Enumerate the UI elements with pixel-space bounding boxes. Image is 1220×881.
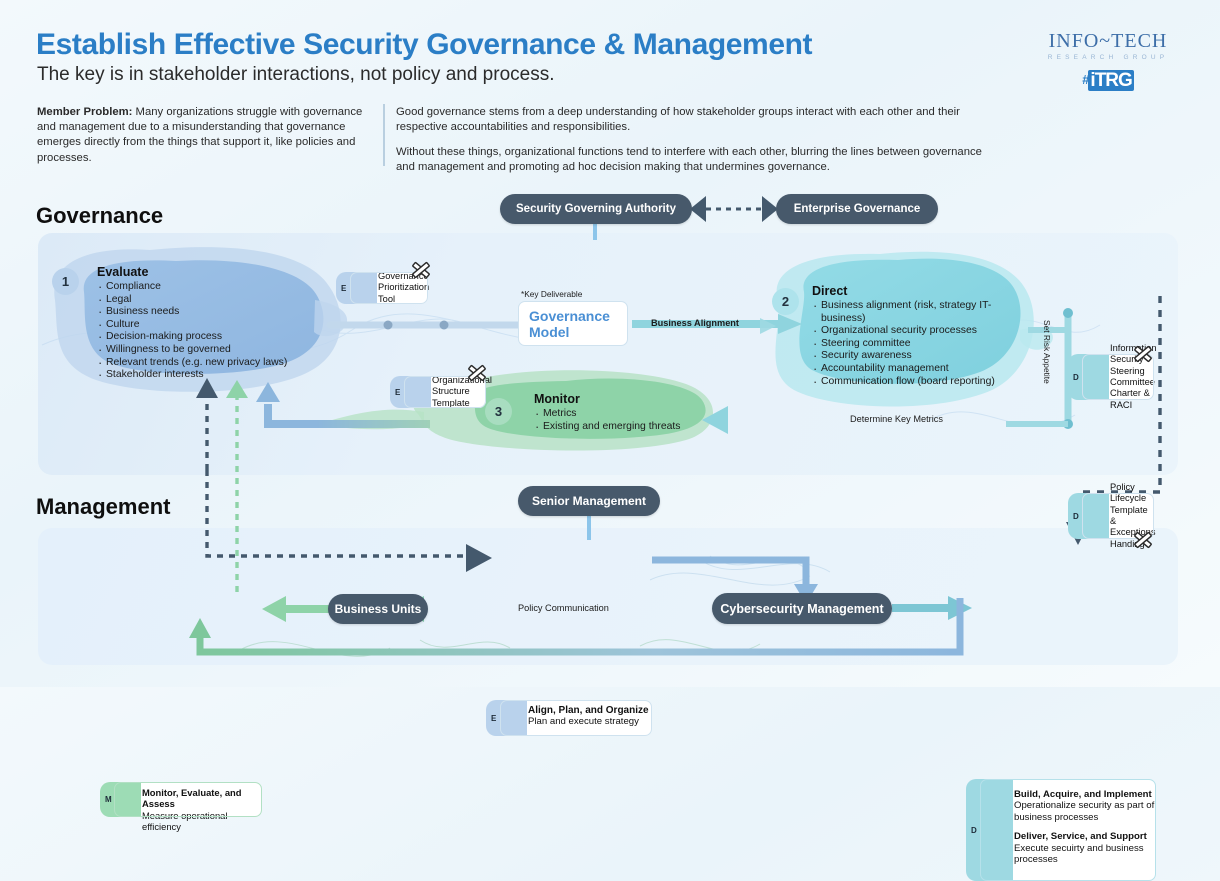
deliverable-policy-lifecycle-template[interactable]: D Policy Lifecycle Template & Exceptions…	[1082, 493, 1154, 539]
step-number-3: 3	[485, 398, 512, 425]
tool-icon	[1132, 529, 1154, 551]
tool-icon	[1132, 343, 1154, 365]
card-text: Monitor, Evaluate, and Assess Measure op…	[136, 782, 262, 817]
card-align-plan-organize[interactable]: E Align, Plan, and Organize Plan and exe…	[500, 700, 652, 736]
card-desc: Operationalize security as part of busin…	[1014, 800, 1156, 823]
direct-block: Direct Business alignment (risk, strateg…	[812, 284, 1017, 388]
card-title: Monitor, Evaluate, and Assess	[142, 787, 262, 810]
tag-letter: E	[395, 388, 400, 397]
list-item: Communication flow (board reporting)	[812, 376, 1017, 389]
info-tech-logo: INFO~TECH RESEARCH GROUP #iTRG	[1028, 30, 1188, 92]
label-set-risk-appetite: Set Risk Appetite	[1042, 320, 1052, 384]
node-cybersecurity-management[interactable]: Cybersecurity Management	[712, 593, 892, 624]
list-item: Existing and emerging threats	[534, 421, 754, 434]
list-item: Security awareness	[812, 350, 1017, 363]
list-item: Stakeholder interests	[97, 369, 347, 382]
node-enterprise-governance[interactable]: Enterprise Governance	[776, 194, 938, 224]
list-item: Business needs	[97, 306, 347, 319]
tag-letter: D	[1073, 373, 1079, 382]
direct-title: Direct	[812, 284, 1017, 298]
card-desc: Execute secuirty and business processes	[1014, 843, 1156, 866]
intro-paragraph-1: Good governance stems from a deep unders…	[396, 105, 986, 134]
deliverable-infosec-steering-committee-charter[interactable]: D Information Security Steering Committe…	[1082, 354, 1154, 400]
node-label: Security Governing Authority	[516, 203, 676, 215]
deliverable-tag: E	[390, 376, 431, 408]
deliverable-tag: D	[1068, 493, 1109, 539]
card-title: Deliver, Service, and Support	[1014, 831, 1156, 842]
deliverable-tag: D	[1068, 354, 1109, 400]
list-item: Accountability management	[812, 363, 1017, 376]
direct-list: Business alignment (risk, strategy IT-bu…	[812, 300, 1017, 388]
label-determine-key-metrics: Determine Key Metrics	[850, 414, 943, 424]
tag-letter: M	[105, 795, 112, 804]
tag-letter: D	[1073, 512, 1079, 521]
step-number-label: 1	[62, 274, 69, 289]
list-item: Organizational security processes	[812, 325, 1017, 338]
management-panel	[38, 528, 1178, 665]
label-business-alignment: Business Alignment	[651, 318, 739, 328]
step-number-1: 1	[52, 268, 79, 295]
step-number-2: 2	[772, 288, 799, 315]
monitor-title: Monitor	[534, 392, 754, 406]
tag-letter: E	[491, 714, 496, 723]
tool-icon	[466, 362, 488, 384]
step-number-label: 3	[495, 404, 502, 419]
node-security-governing-authority[interactable]: Security Governing Authority	[500, 194, 692, 224]
card-monitor-evaluate-assess[interactable]: M Monitor, Evaluate, and Assess Measure …	[114, 782, 262, 817]
card-title: Align, Plan, and Organize	[528, 705, 652, 716]
deliverable-tag: E	[336, 272, 377, 304]
node-label: Senior Management	[532, 494, 646, 508]
itrg-logo: #iTRG	[1028, 70, 1188, 92]
deliverable-governance-prioritization-tool[interactable]: E Governance Prioritization Tool	[350, 272, 428, 304]
card-tag: M	[100, 782, 141, 817]
step-number-label: 2	[782, 294, 789, 309]
list-item: Metrics	[534, 408, 754, 421]
intro-paragraphs: Good governance stems from a deep unders…	[396, 105, 986, 185]
list-item: Legal	[97, 294, 347, 307]
monitor-block: Monitor Metrics Existing and emerging th…	[534, 392, 754, 433]
node-business-units[interactable]: Business Units	[328, 594, 428, 624]
itrg-wordmark: iTRG	[1088, 70, 1133, 91]
logo-tagline: RESEARCH GROUP	[1028, 54, 1188, 61]
tool-icon	[410, 259, 432, 281]
node-label: Enterprise Governance	[794, 203, 921, 215]
node-senior-management[interactable]: Senior Management	[518, 486, 660, 516]
card-text: Align, Plan, and Organize Plan and execu…	[522, 700, 652, 736]
card-tag: E	[486, 700, 527, 736]
label-policy-communication: Policy Communication	[518, 603, 609, 613]
card-text: Build, Acquire, and Implement Operationa…	[1010, 779, 1156, 881]
monitor-list: Metrics Existing and emerging threats	[534, 408, 754, 433]
page-subtitle: The key is in stakeholder interactions, …	[37, 64, 555, 86]
key-deliverable-note: *Key Deliverable	[521, 289, 582, 299]
governance-model-box[interactable]: Governance Model	[518, 301, 628, 346]
member-problem-label: Member Problem:	[37, 106, 132, 118]
card-title: Build, Acquire, and Implement	[1014, 789, 1156, 800]
list-item: Decision-making process	[97, 331, 347, 344]
evaluate-block: Evaluate Compliance Legal Business needs…	[97, 265, 347, 382]
member-problem-text: Member Problem: Many organizations strug…	[37, 105, 367, 166]
node-label: Business Units	[335, 602, 422, 616]
intro-divider	[383, 104, 385, 166]
list-item: Business alignment (risk, strategy IT-bu…	[812, 300, 1017, 325]
tag-letter: E	[341, 284, 346, 293]
governance-model-label: Governance Model	[529, 308, 627, 340]
evaluate-list: Compliance Legal Business needs Culture …	[97, 281, 347, 382]
card-desc: Plan and execute strategy	[528, 716, 652, 727]
list-item: Relevant trends (e.g. new privacy laws)	[97, 357, 347, 370]
page-title: Establish Effective Security Governance …	[36, 28, 812, 62]
tag-letter: D	[971, 826, 977, 835]
intro-paragraph-2: Without these things, organizational fun…	[396, 145, 986, 174]
node-label: Cybersecurity Management	[720, 602, 883, 616]
card-tag: D	[966, 779, 1013, 881]
list-item: Culture	[97, 319, 347, 332]
management-section-label: Management	[36, 494, 170, 520]
list-item: Willingness to be governed	[97, 344, 347, 357]
deliverable-organizational-structure-template[interactable]: E Organizational Structure Template	[404, 376, 486, 408]
logo-wordmark: INFO~TECH	[1028, 30, 1188, 53]
card-build-deliver[interactable]: D Build, Acquire, and Implement Operatio…	[980, 779, 1156, 881]
governance-section-label: Governance	[36, 203, 163, 229]
list-item: Steering committee	[812, 338, 1017, 351]
list-item: Compliance	[97, 281, 347, 294]
card-desc: Measure operational efficiency	[142, 810, 262, 833]
evaluate-title: Evaluate	[97, 265, 347, 279]
